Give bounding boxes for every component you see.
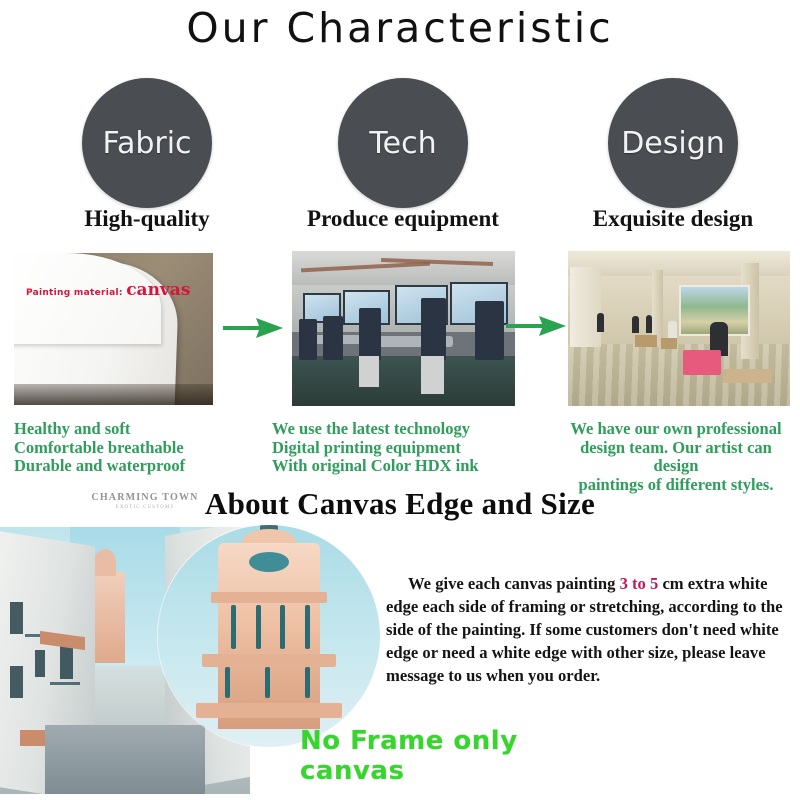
badge-label-tech: Tech [369,126,436,161]
tower-column-6 [265,667,270,698]
badge-circle-tech: Tech [338,78,468,208]
tower-column-3 [280,605,285,649]
feature-caption-design: Exquisite design [543,206,800,232]
canvas-material-label: Painting material: canvas [26,280,190,300]
feature-badge-tech: Tech [278,78,528,208]
factory-machine-base-1 [359,356,379,387]
feature-caption-fabric: High-quality [17,206,277,232]
paragraph-part-1: We give each canvas painting [408,574,620,593]
tower-ledge-2 [202,654,335,667]
paragraph-highlight-measurement: 3 to 5 [620,574,659,593]
factory-machine-5 [475,301,504,360]
canvas-shadow [14,384,213,405]
factory-machine-1 [299,319,317,359]
tower-column-5 [225,667,230,698]
tower-column-7 [305,667,310,698]
studio-person-3 [646,315,653,334]
feature-badge-design: Design [548,78,798,208]
canvas-photo-art: Painting material: canvas [14,253,213,405]
street-balcony-2 [50,682,80,685]
street-window-2 [10,666,23,698]
tower-ledge-3 [196,703,343,719]
studio-table-2 [661,338,677,349]
feature-badge-fabric: Fabric [22,78,272,208]
canvas-material-photo: Painting material: canvas [14,253,213,405]
tower-column-4 [305,605,310,649]
page-title: Our Characteristic [0,4,800,52]
factory-machine-4 [421,298,446,360]
infographic-page: Our Characteristic Fabric Tech Design Hi… [0,0,800,800]
badge-circle-design: Design [608,78,738,208]
street-window-1 [10,602,23,634]
studio-person-4 [668,321,677,338]
factory-photo-art [292,251,515,406]
street-road [45,725,205,794]
badge-circle-fabric: Fabric [82,78,212,208]
badge-label-design: Design [621,126,725,161]
factory-machine-3 [359,308,381,359]
studio-person-1 [597,313,604,332]
feature-description-fabric: Healthy and soft Comfortable breathable … [14,420,185,476]
canvas-label-big: canvas [126,280,190,300]
tower-dome [249,552,289,572]
tower-ledge-1 [211,592,326,603]
studio-table-1 [635,335,657,347]
studio-person-2 [632,316,639,333]
studio-wall-left [570,267,601,348]
arrow-right-icon-1 [223,315,285,341]
section-title-canvas-edge: About Canvas Edge and Size [0,486,800,522]
factory-machine-2 [323,316,343,359]
factory-floor [292,356,515,406]
magnifier-circle-inset [158,525,380,747]
street-window-3 [35,650,45,677]
studio-crate [723,369,772,383]
studio-pink-cart [683,350,721,375]
feature-description-design: We have our own professional design team… [556,420,796,494]
street-window-4 [60,644,73,679]
factory-machine-base-2 [421,356,443,393]
canvas-label-small: Painting material: [26,288,123,298]
studio-photo-art [568,251,790,406]
arrow-right-icon-2 [506,313,568,339]
feature-description-tech: We use the latest technology Digital pri… [272,420,479,476]
feature-caption-tech: Produce equipment [273,206,533,232]
no-frame-note: No Frame only canvas [300,726,620,786]
tower-column-1 [231,605,236,649]
printing-factory-photo [292,251,515,406]
art-studio-photo [568,251,790,406]
canvas-edge-paragraph: We give each canvas painting 3 to 5 cm e… [386,572,792,687]
tower-column-2 [256,605,261,649]
badge-label-fabric: Fabric [102,126,191,161]
